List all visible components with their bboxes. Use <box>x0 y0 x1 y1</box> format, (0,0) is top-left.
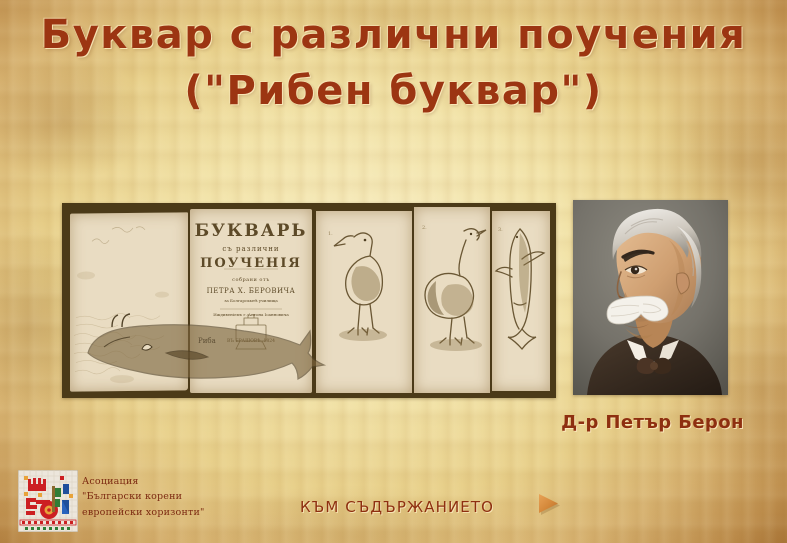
svg-text:2.: 2. <box>422 225 427 231</box>
association-logo <box>18 470 78 532</box>
portrait-painting-icon <box>573 200 728 395</box>
fish-dolphin-icon: 3. <box>492 211 550 391</box>
next-slide-arrow-button[interactable] <box>534 491 562 517</box>
presentation-slide: Буквар с различни поучения ("Рибен буква… <box>0 0 787 543</box>
svg-text:1.: 1. <box>328 231 333 237</box>
book-page-illustration-ostrich: 2. <box>414 207 490 393</box>
book-page-illustration-dolphin: 3. <box>492 211 550 391</box>
svg-text:Риба: Риба <box>198 337 216 345</box>
play-triangle-right-icon[interactable] <box>534 491 562 517</box>
book-photograph: БУКВАРЬ съ различни ПОУЧЕНІЯ собрани отъ… <box>62 203 556 398</box>
slide-title: Буквар с различни поучения ("Рибен буква… <box>0 14 787 113</box>
go-to-contents-link[interactable]: КЪМ СЪДЪРЖАНИЕТО <box>300 498 494 516</box>
whale-icon: Риба <box>70 309 370 393</box>
svg-text:3.: 3. <box>498 227 503 233</box>
logo-text-line-3: европейски хоризонти" <box>82 505 262 520</box>
folk-embroidery-logo-icon <box>18 470 78 532</box>
title-line-secondary: ("Рибен буквар") <box>0 70 787 113</box>
portrait-petar-beron <box>573 200 728 395</box>
association-logo-text: Асоциация "Български корени европейски х… <box>82 474 262 520</box>
bird-ostrich-icon: 2. <box>414 207 490 393</box>
portrait-caption: Д-р Петър Берон <box>545 412 760 433</box>
title-line-primary: Буквар с различни поучения <box>0 14 787 57</box>
logo-text-line-1: Асоциация <box>82 474 262 489</box>
logo-text-line-2: "Български корени <box>82 489 262 504</box>
